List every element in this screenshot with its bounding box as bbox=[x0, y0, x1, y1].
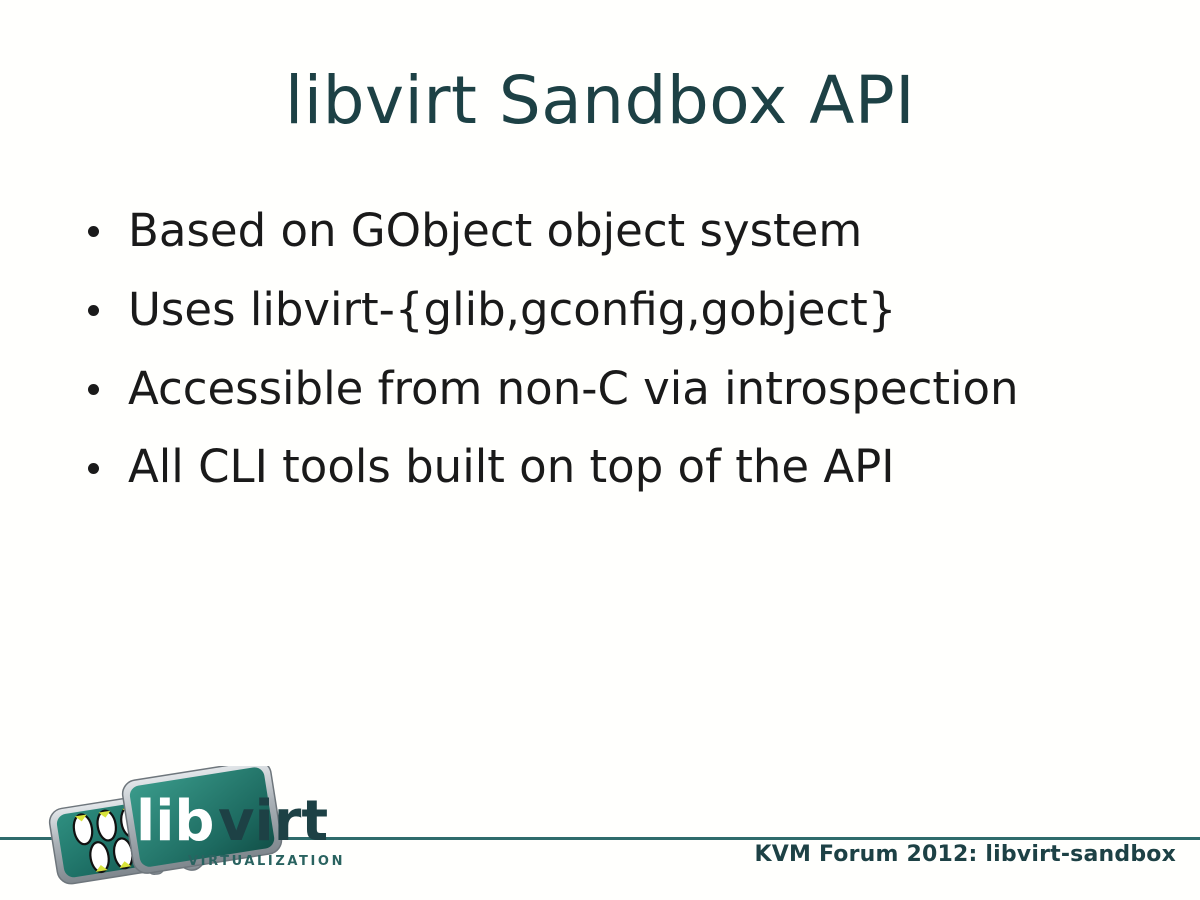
logo-wordmark-light: lib bbox=[136, 789, 214, 854]
list-item-label: Uses libvirt-{glib,gconfig,gobject} bbox=[128, 283, 896, 336]
logo-tagline: VIRTUALIZATION API bbox=[188, 854, 350, 869]
list-item-label: Accessible from non-C via introspection bbox=[128, 362, 1019, 415]
list-item-label: All CLI tools built on top of the API bbox=[128, 440, 895, 493]
bullet-dot-icon bbox=[88, 463, 99, 474]
bullet-list: Based on GObject object system Uses libv… bbox=[84, 208, 1144, 523]
logo-wordmark-dark: virt bbox=[218, 789, 328, 854]
list-item: Accessible from non-C via introspection bbox=[84, 366, 1144, 413]
libvirt-logo: lib virt VIRTUALIZATION API bbox=[40, 766, 350, 892]
presentation-slide: libvirt Sandbox API Based on GObject obj… bbox=[0, 0, 1200, 900]
bullet-dot-icon bbox=[88, 305, 99, 316]
list-item: All CLI tools built on top of the API bbox=[84, 444, 1144, 491]
bullet-dot-icon bbox=[88, 384, 99, 395]
footer-label: KVM Forum 2012: libvirt-sandbox bbox=[755, 842, 1176, 867]
bullet-dot-icon bbox=[88, 226, 99, 237]
list-item-label: Based on GObject object system bbox=[128, 204, 862, 257]
list-item: Based on GObject object system bbox=[84, 208, 1144, 255]
page-title: libvirt Sandbox API bbox=[0, 68, 1200, 134]
list-item: Uses libvirt-{glib,gconfig,gobject} bbox=[84, 287, 1144, 334]
